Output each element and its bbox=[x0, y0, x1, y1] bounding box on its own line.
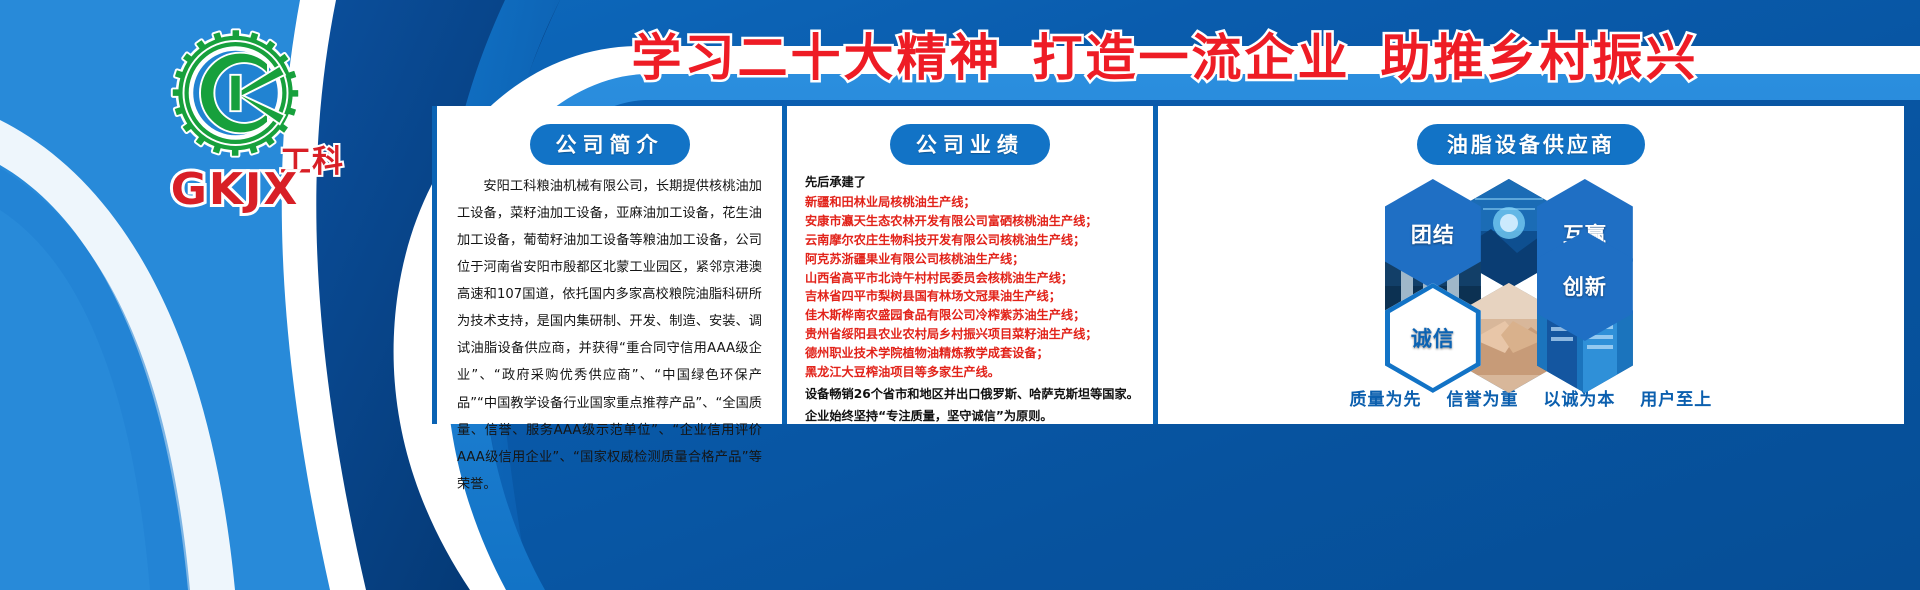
panel-supplier: 油脂设备供应商 bbox=[1158, 106, 1904, 424]
list-item: 阿克苏浙疆果业有限公司核桃油生产线； bbox=[805, 250, 1139, 269]
performance-footer-line-2: 企业始终坚持“专注质量，坚守诚信”为原则。 bbox=[801, 407, 1139, 426]
hex-label: 团结 bbox=[1411, 219, 1455, 249]
headline-part-2: 打造一流企业 bbox=[1033, 29, 1351, 87]
slogan-part-2: 信誉为重 bbox=[1446, 390, 1518, 410]
hex-label: 创新 bbox=[1563, 271, 1607, 301]
slogan-part-1: 质量为先 bbox=[1350, 390, 1422, 410]
badge-company-performance: 公司业绩 bbox=[890, 124, 1050, 165]
headline-part-1: 学习二十大精神 bbox=[632, 29, 1003, 87]
hex-label: 诚信 bbox=[1411, 323, 1455, 353]
slogan-part-3: 以诚为本 bbox=[1543, 390, 1615, 410]
content-board: 公司简介 安阳工科粮油机械有限公司，长期提供核桃油加工设备，菜籽油加工设备，亚麻… bbox=[432, 106, 1904, 424]
panel-company-intro: 公司简介 安阳工科粮油机械有限公司，长期提供核桃油加工设备，菜籽油加工设备，亚麻… bbox=[437, 106, 782, 424]
performance-list: 新疆和田林业局核桃油生产线； 安康市瀛天生态农林开发有限公司富硒核桃油生产线； … bbox=[801, 193, 1139, 382]
poster-canvas: 工科 GKJX 学习二十大精神打造一流企业助推乡村振兴 公司简介 安阳工科粮油机… bbox=[0, 0, 1920, 590]
company-intro-text: 安阳工科粮油机械有限公司，长期提供核桃油加工设备，菜籽油加工设备，亚麻油加工设备… bbox=[451, 173, 768, 498]
badge-company-intro: 公司简介 bbox=[530, 124, 690, 165]
list-item: 云南摩尔农庄生物科技开发有限公司核桃油生产线； bbox=[805, 231, 1139, 250]
page-title: 学习二十大精神打造一流企业助推乡村振兴 bbox=[430, 18, 1900, 90]
supplier-slogan: 质量为先 信誉为重 以诚为本 用户至上 bbox=[1172, 385, 1890, 410]
list-item: 贵州省绥阳县农业农村局乡村振兴项目菜籽油生产线； bbox=[805, 325, 1139, 344]
slogan-part-4: 用户至上 bbox=[1640, 390, 1712, 410]
list-item: 新疆和田林业局核桃油生产线； bbox=[805, 193, 1139, 212]
logo-english-text: GKJX bbox=[120, 164, 350, 215]
hexagon-graphic-group: 团结 互赢 创新 诚信 bbox=[1172, 173, 1890, 381]
list-item: 山西省高平市北诗午村村民委员会核桃油生产线； bbox=[805, 269, 1139, 288]
list-item: 黑龙江大豆榨油项目等多家生产线。 bbox=[805, 363, 1139, 382]
performance-lead-text: 先后承建了 bbox=[801, 173, 1139, 192]
list-item: 佳木斯桦南农盛园食品有限公司冷榨紫苏油生产线； bbox=[805, 306, 1139, 325]
headline-part-3: 助推乡村振兴 bbox=[1381, 29, 1699, 87]
badge-supplier: 油脂设备供应商 bbox=[1417, 124, 1645, 165]
list-item: 安康市瀛天生态农林开发有限公司富硒核桃油生产线； bbox=[805, 212, 1139, 231]
list-item: 吉林省四平市梨树县国有林场文冠果油生产线； bbox=[805, 287, 1139, 306]
panel-company-performance: 公司业绩 先后承建了 新疆和田林业局核桃油生产线； 安康市瀛天生态农林开发有限公… bbox=[787, 106, 1153, 424]
company-logo: 工科 GKJX bbox=[120, 28, 350, 213]
list-item: 德州职业技术学院植物油精炼教学成套设备； bbox=[805, 344, 1139, 363]
performance-footer-line-1: 设备畅销26个省市和地区并出口俄罗斯、哈萨克斯坦等国家。 bbox=[801, 385, 1139, 404]
